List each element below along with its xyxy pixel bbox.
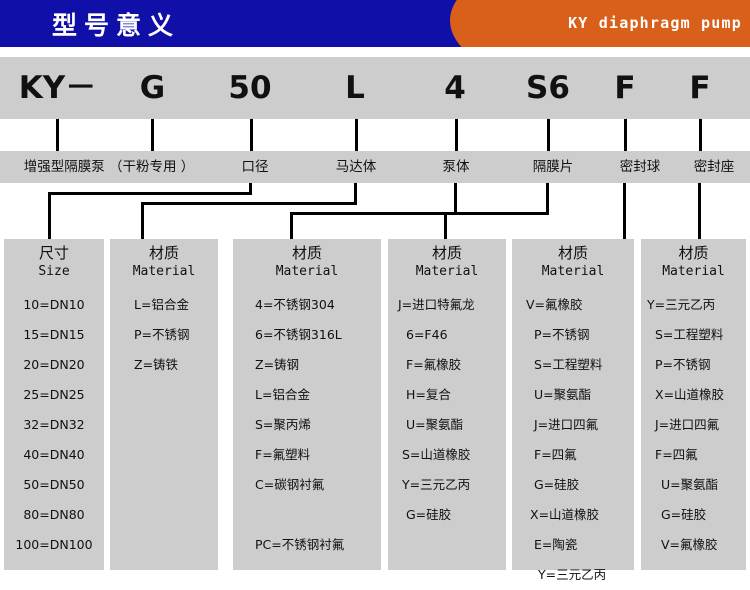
model-label-segment-7: 密封座 xyxy=(678,151,750,183)
model-code-segment-5: S6 xyxy=(512,57,584,119)
list-item: 25=DN25 xyxy=(4,380,104,410)
list-item: E=陶瓷 xyxy=(526,530,634,560)
list-item: U=聚氨酯 xyxy=(398,410,506,440)
list-item: 20=DN20 xyxy=(4,350,104,380)
model-code-segment-4: 4 xyxy=(420,57,490,119)
model-code-segment-6: F xyxy=(592,57,658,119)
column-title-en: Size xyxy=(4,263,104,280)
column-items: 10=DN10 15=DN15 20=DN20 25=DN25 32=DN32 … xyxy=(4,290,104,560)
column-title-en: Material xyxy=(233,263,381,280)
column-header: 材质 Material xyxy=(641,239,746,280)
bracket-arm-3 xyxy=(444,212,549,215)
list-item: 32=DN32 xyxy=(4,410,104,440)
column-header: 材质 Material xyxy=(388,239,506,280)
list-item: 15=DN15 xyxy=(4,320,104,350)
column-title-en: Material xyxy=(641,263,746,280)
column-title-cn: 材质 xyxy=(641,244,746,263)
bracket-stem-2 xyxy=(454,183,457,215)
list-item: L=铝合金 xyxy=(134,290,218,320)
list-item: Y=三元乙丙 xyxy=(647,290,746,320)
list-item: 80=DN80 xyxy=(4,500,104,530)
list-item: 4=不锈钢304 xyxy=(255,290,381,320)
list-item: J=进口四氟 xyxy=(647,410,746,440)
bracket-drop-5 xyxy=(698,183,701,239)
column-title-en: Material xyxy=(388,263,506,280)
model-code-segment-1: G xyxy=(115,57,190,119)
bracket-stem-3 xyxy=(546,183,549,215)
model-label-segment-3: 马达体 xyxy=(310,151,402,183)
list-item: S=工程塑料 xyxy=(526,350,634,380)
model-label-segment-5: 隔膜片 xyxy=(508,151,598,183)
list-item: G=硅胶 xyxy=(398,500,506,530)
column-title-en: Material xyxy=(512,263,634,280)
list-item: U=聚氨酯 xyxy=(526,380,634,410)
column-items: V=氟橡胶 P=不锈钢 S=工程塑料 U=聚氨酯 J=进口四氟 F=四氟 G=硅… xyxy=(512,290,634,590)
list-item: 40=DN40 xyxy=(4,440,104,470)
list-item: 50=DN50 xyxy=(4,470,104,500)
column-title-cn: 材质 xyxy=(110,244,218,263)
list-item: U=聚氨酯 xyxy=(647,470,746,500)
model-code-segment-2: 50 xyxy=(205,57,295,119)
list-item: G=硅胶 xyxy=(526,470,634,500)
model-label-segment-6: 密封球 xyxy=(604,151,676,183)
tick-connector-6 xyxy=(624,119,627,152)
column-header: 材质 Material xyxy=(110,239,218,280)
list-item: Y=三元乙丙 xyxy=(526,560,634,590)
column-items: J=进口特氟龙 6=F46 F=氟橡胶 H=复合 U=聚氨酯 S=山道橡胶 Y=… xyxy=(388,290,506,530)
tick-connector-2 xyxy=(250,119,253,152)
column-title-cn: 材质 xyxy=(512,244,634,263)
list-item: F=氟塑料 xyxy=(255,440,381,470)
list-item: 10=DN10 xyxy=(4,290,104,320)
list-item: L=铝合金 xyxy=(255,380,381,410)
bracket-arm-1 xyxy=(141,202,357,205)
tick-connector-3 xyxy=(355,119,358,152)
list-item: Y=三元乙丙 xyxy=(398,470,506,500)
tick-connector-1 xyxy=(151,119,154,152)
list-item: G=硅胶 xyxy=(647,500,746,530)
list-item: S=聚丙烯 xyxy=(255,410,381,440)
column-title-cn: 材质 xyxy=(233,244,381,263)
model-label-band: 增强型隔膜泵 （干粉专用 ） 口径 马达体 泵体 隔膜片 密封球 密封座 xyxy=(0,151,750,183)
bracket-arm-2 xyxy=(290,212,457,215)
tick-connector-7 xyxy=(699,119,702,152)
list-item: 6=F46 xyxy=(398,320,506,350)
column-title-cn: 材质 xyxy=(388,244,506,263)
bracket-drop-1 xyxy=(141,202,144,239)
model-designation-diagram: 型号意义 KY diaphragm pump KY－ G 50 L 4 S6 F… xyxy=(0,0,750,576)
model-code-segment-0: KY－ xyxy=(0,57,115,119)
model-code-segment-7: F xyxy=(667,57,733,119)
spec-column-pump-body: 材质 Material 4=不锈钢304 6=不锈钢316L Z=铸钢 L=铝合… xyxy=(233,239,381,570)
list-item: V=氟橡胶 xyxy=(647,530,746,560)
list-item: P=不锈钢 xyxy=(526,320,634,350)
list-item: F=四氟 xyxy=(526,440,634,470)
tick-connector-4 xyxy=(455,119,458,152)
list-item: J=进口四氟 xyxy=(526,410,634,440)
column-items: Y=三元乙丙 S=工程塑料 P=不锈钢 X=山道橡胶 J=进口四氟 F=四氟 U… xyxy=(641,290,746,560)
list-item: J=进口特氟龙 xyxy=(398,290,506,320)
spec-column-size: 尺寸 Size 10=DN10 15=DN15 20=DN20 25=DN25 … xyxy=(4,239,104,570)
column-title-en: Material xyxy=(110,263,218,280)
page-title: 型号意义 xyxy=(52,6,180,42)
column-items: L=铝合金 P=不锈钢 Z=铸铁 xyxy=(110,290,218,380)
list-item: 100=DN100 xyxy=(4,530,104,560)
list-item: X=山道橡胶 xyxy=(526,500,634,530)
column-items: 4=不锈钢304 6=不锈钢316L Z=铸钢 L=铝合金 S=聚丙烯 F=氟塑… xyxy=(233,290,381,560)
list-item: 6=不锈钢316L xyxy=(255,320,381,350)
bracket-drop-2 xyxy=(290,212,293,239)
bracket-drop-4 xyxy=(623,183,626,239)
list-item: F=四氟 xyxy=(647,440,746,470)
list-item: PC=不锈钢衬氟 xyxy=(255,530,381,560)
list-item: X=山道橡胶 xyxy=(647,380,746,410)
bracket-drop-3 xyxy=(444,212,447,239)
column-header: 尺寸 Size xyxy=(4,239,104,280)
model-label-segment-0: 增强型隔膜泵 （干粉专用 ） xyxy=(0,151,218,183)
spec-column-motor-body: 材质 Material L=铝合金 P=不锈钢 Z=铸铁 xyxy=(110,239,218,570)
spec-column-seal-ball: 材质 Material V=氟橡胶 P=不锈钢 S=工程塑料 U=聚氨酯 J=进… xyxy=(512,239,634,570)
bracket-drop-0 xyxy=(48,192,51,239)
list-item: Z=铸钢 xyxy=(255,350,381,380)
header-product-name: KY diaphragm pump xyxy=(568,14,742,32)
page-header: 型号意义 KY diaphragm pump xyxy=(0,0,750,47)
list-item: P=不锈钢 xyxy=(134,320,218,350)
spec-column-diaphragm: 材质 Material J=进口特氟龙 6=F46 F=氟橡胶 H=复合 U=聚… xyxy=(388,239,506,570)
list-item-spacer xyxy=(255,500,381,530)
list-item: Z=铸铁 xyxy=(134,350,218,380)
model-label-segment-4: 泵体 xyxy=(420,151,492,183)
tick-connector-5 xyxy=(547,119,550,152)
column-title-cn: 尺寸 xyxy=(4,244,104,263)
model-code-band: KY－ G 50 L 4 S6 F F xyxy=(0,57,750,119)
tick-connector-0 xyxy=(56,119,59,152)
list-item: P=不锈钢 xyxy=(647,350,746,380)
bracket-arm-0 xyxy=(48,192,252,195)
list-item: V=氟橡胶 xyxy=(526,290,634,320)
list-item: C=碳钢衬氟 xyxy=(255,470,381,500)
model-code-segment-3: L xyxy=(320,57,390,119)
spec-column-seal-seat: 材质 Material Y=三元乙丙 S=工程塑料 P=不锈钢 X=山道橡胶 J… xyxy=(641,239,746,570)
list-item: S=山道橡胶 xyxy=(398,440,506,470)
list-item: F=氟橡胶 xyxy=(398,350,506,380)
column-header: 材质 Material xyxy=(233,239,381,280)
model-label-segment-2: 口径 xyxy=(218,151,292,183)
list-item: H=复合 xyxy=(398,380,506,410)
column-header: 材质 Material xyxy=(512,239,634,280)
list-item: S=工程塑料 xyxy=(647,320,746,350)
